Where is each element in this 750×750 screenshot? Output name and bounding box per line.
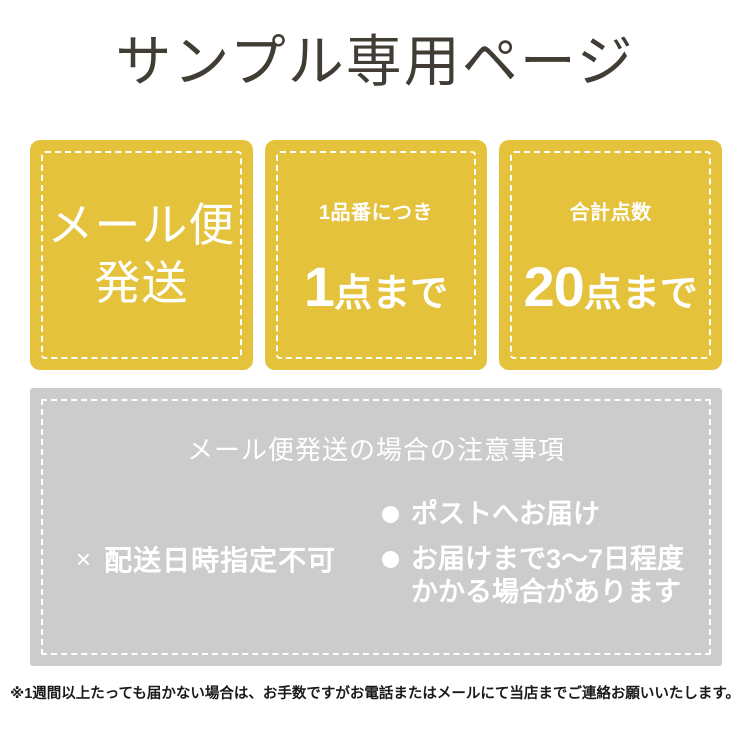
card-per-item-limit-value: 1点まで <box>265 259 488 315</box>
notice-restriction-block: ×配送日時指定不可 <box>30 494 382 624</box>
notice-bullet-list: ポストへお届け お届けまで3〜7日程度 かかる場合があります <box>382 494 722 609</box>
card-per-item-limit-suffix: 点まで <box>334 273 448 315</box>
card-total-limit-content: 合計点数 20点まで <box>499 196 722 315</box>
card-total-limit: 合計点数 20点まで <box>499 140 722 370</box>
bullet-dot-icon <box>382 551 399 568</box>
footnote-text: ※1週間以上たっても届かない場合は、お手数ですがお電話またはメールにて当店までご… <box>0 682 750 703</box>
sample-shipping-banner: サンプル専用ページ メール便 発送 1品番につき 1点まで 合計点数 <box>0 0 750 750</box>
card-total-limit-number: 20 <box>524 255 584 318</box>
info-cards-row: メール便 発送 1品番につき 1点まで 合計点数 20点まで <box>30 140 722 370</box>
notice-bullet-line1: ポストへお届け <box>411 499 600 529</box>
card-per-item-limit-content: 1品番につき 1点まで <box>265 196 488 315</box>
x-mark-icon: × <box>76 544 92 575</box>
card-per-item-limit-number: 1 <box>304 255 334 318</box>
notice-bullet-text: お届けまで3〜7日程度 かかる場合があります <box>411 543 684 609</box>
list-item: ポストへお届け <box>382 498 722 531</box>
list-item: お届けまで3〜7日程度 かかる場合があります <box>382 543 722 609</box>
notice-restriction-label: 配送日時指定不可 <box>104 545 336 576</box>
notice-bullet-line2: かかる場合があります <box>411 577 681 607</box>
card-mail-shipping-line1: メール便 <box>30 197 253 255</box>
page-title: サンプル専用ページ <box>0 28 750 95</box>
shipping-notice-heading: メール便発送の場合の注意事項 <box>30 430 722 467</box>
card-per-item-limit-label: 1品番につき <box>265 196 488 225</box>
shipping-notice-body: ×配送日時指定不可 ポストへお届け お届けまで3〜7日程度 かかる場合があります <box>30 494 722 644</box>
card-mail-shipping-content: メール便 発送 <box>30 197 253 313</box>
card-total-limit-value: 20点まで <box>499 259 722 315</box>
notice-bullet-line1: お届けまで3〜7日程度 <box>411 544 684 574</box>
shipping-notice-panel: メール便発送の場合の注意事項 ×配送日時指定不可 ポストへお届け お届 <box>30 388 722 666</box>
notice-restriction-text-wrap: ×配送日時指定不可 <box>76 539 336 579</box>
notice-bullet-text: ポストへお届け <box>411 498 600 531</box>
card-total-limit-suffix: 点まで <box>584 273 698 315</box>
card-per-item-limit: 1品番につき 1点まで <box>265 140 488 370</box>
card-total-limit-label: 合計点数 <box>499 196 722 225</box>
card-mail-shipping-line2: 発送 <box>30 255 253 313</box>
bullet-dot-icon <box>382 506 399 523</box>
card-mail-shipping: メール便 発送 <box>30 140 253 370</box>
